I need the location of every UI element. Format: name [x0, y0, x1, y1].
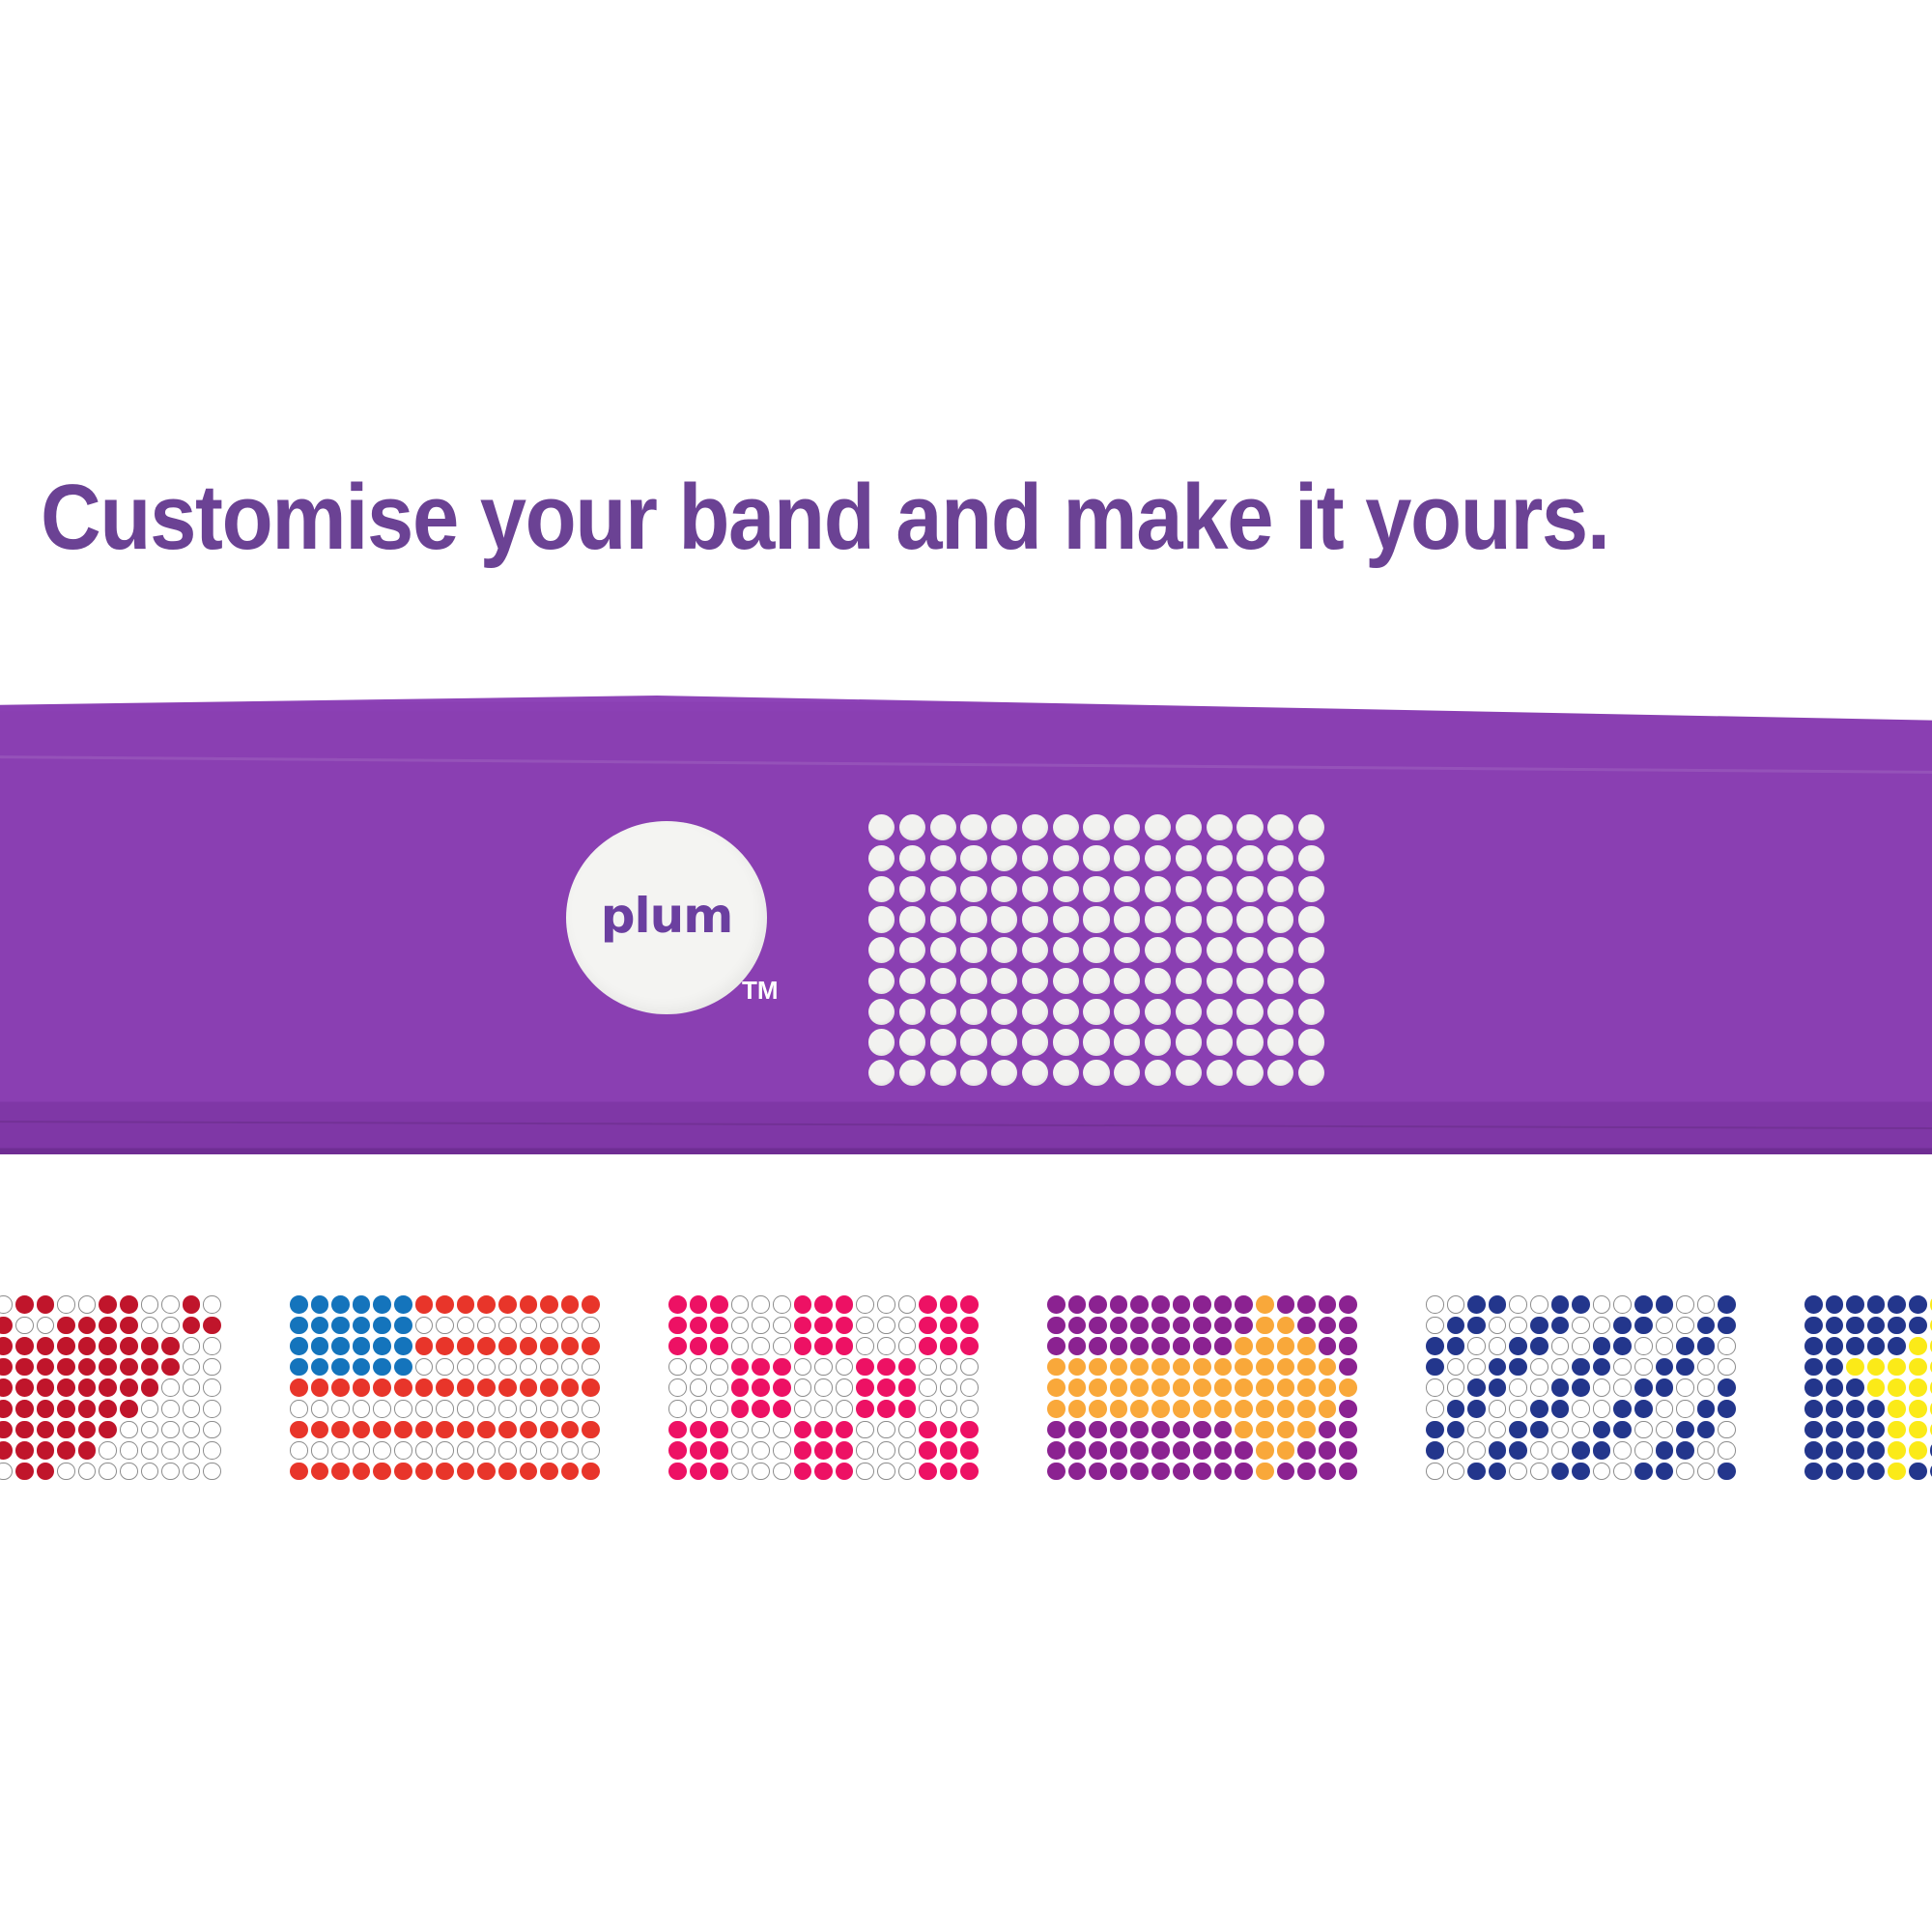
usa-flag-dot [353, 1295, 371, 1314]
usa-flag-dot [290, 1295, 308, 1314]
navy-zigzag-dot [1718, 1463, 1736, 1481]
purple-orange-cross-dot [1193, 1337, 1211, 1355]
pink-checker-dot [668, 1400, 687, 1418]
heart-red-dot [57, 1358, 75, 1377]
pink-checker-dot [836, 1463, 854, 1481]
pink-checker-dot [856, 1400, 874, 1418]
usa-flag-dot [582, 1378, 600, 1397]
pink-checker-dot [856, 1441, 874, 1460]
navy-zigzag-dot [1656, 1295, 1674, 1314]
pink-checker-dot [898, 1295, 917, 1314]
navy-zigzag-dot [1489, 1378, 1507, 1397]
nordic-cross-dot [1804, 1400, 1823, 1418]
usa-flag-dot [582, 1463, 600, 1481]
logo-wordmark: plum [566, 821, 767, 1014]
purple-orange-cross-dot [1256, 1441, 1274, 1460]
purple-orange-cross-dot [1339, 1358, 1357, 1377]
purple-orange-cross-dot [1339, 1441, 1357, 1460]
nordic-cross-dot [1846, 1463, 1864, 1481]
usa-flag-dot [353, 1358, 371, 1377]
band-grid-dot [899, 845, 925, 871]
usa-flag-dot [477, 1358, 496, 1377]
purple-orange-cross-dot [1047, 1358, 1065, 1377]
pink-checker-dot [773, 1358, 791, 1377]
band-grid-dot [1298, 937, 1324, 963]
band-grid-dot [868, 876, 895, 902]
usa-flag-dot [498, 1441, 517, 1460]
band-grid-dot [960, 1060, 986, 1086]
purple-orange-cross-dot [1214, 1378, 1233, 1397]
navy-zigzag-dot [1426, 1421, 1444, 1439]
band-grid-dot [960, 814, 986, 840]
band-grid-dot [1298, 845, 1324, 871]
pink-checker-dot [877, 1421, 895, 1439]
band-grid-dot [868, 1060, 895, 1086]
pink-checker-dot [898, 1317, 917, 1335]
heart-red-dot [141, 1441, 159, 1460]
usa-flag-dot [331, 1400, 350, 1418]
pink-checker-dot [690, 1463, 708, 1481]
nordic-cross-dot [1826, 1317, 1844, 1335]
usa-flag-dot [290, 1378, 308, 1397]
purple-orange-cross-dot [1173, 1295, 1191, 1314]
usa-flag-dot [436, 1358, 454, 1377]
band-grid-dot [1022, 876, 1048, 902]
usa-flag-dot [311, 1463, 329, 1481]
navy-zigzag-dot [1467, 1378, 1486, 1397]
usa-flag-dot [540, 1295, 558, 1314]
band-grid-dot [1236, 999, 1263, 1025]
band-grid-dot [1236, 968, 1263, 994]
band-grid-dot [1298, 814, 1324, 840]
band-design-usa-flag[interactable] [290, 1295, 600, 1480]
heart-red-dot [0, 1421, 13, 1439]
usa-flag-dot [540, 1441, 558, 1460]
navy-zigzag-dot [1656, 1441, 1674, 1460]
usa-flag-dot [477, 1378, 496, 1397]
nordic-cross-dot [1909, 1421, 1927, 1439]
trademark-symbol: TM [742, 976, 779, 1006]
heart-red-dot [183, 1441, 201, 1460]
pink-checker-dot [877, 1400, 895, 1418]
purple-orange-cross-dot [1193, 1441, 1211, 1460]
navy-zigzag-dot [1426, 1317, 1444, 1335]
purple-orange-cross-dot [1173, 1378, 1191, 1397]
usa-flag-dot [394, 1317, 412, 1335]
purple-orange-cross-dot [1130, 1358, 1149, 1377]
navy-zigzag-dot [1551, 1463, 1570, 1481]
navy-zigzag-dot [1572, 1441, 1590, 1460]
band-grid-dot [1267, 814, 1293, 840]
purple-orange-cross-dot [1256, 1337, 1274, 1355]
pink-checker-dot [940, 1441, 958, 1460]
band-design-purple-orange-cross[interactable] [1047, 1295, 1357, 1480]
navy-zigzag-dot [1551, 1337, 1570, 1355]
purple-orange-cross-dot [1110, 1400, 1128, 1418]
band-grid-dot [1145, 814, 1171, 840]
band-grid-dot [1083, 999, 1109, 1025]
navy-zigzag-dot [1593, 1358, 1611, 1377]
usa-flag-dot [436, 1441, 454, 1460]
band-grid-dot [991, 906, 1017, 932]
band-grid-dot [899, 999, 925, 1025]
usa-flag-dot [290, 1421, 308, 1439]
band-design-nordic-cross[interactable] [1804, 1295, 1932, 1480]
usa-flag-dot [561, 1317, 580, 1335]
nordic-cross-dot [1867, 1295, 1886, 1314]
purple-orange-cross-dot [1277, 1337, 1295, 1355]
navy-zigzag-dot [1718, 1378, 1736, 1397]
usa-flag-dot [311, 1317, 329, 1335]
usa-flag-dot [415, 1317, 434, 1335]
pink-checker-dot [731, 1441, 750, 1460]
navy-zigzag-dot [1530, 1400, 1548, 1418]
band-grid-dot [1022, 906, 1048, 932]
usa-flag-dot [311, 1295, 329, 1314]
heart-red-dot [99, 1358, 117, 1377]
navy-zigzag-dot [1572, 1337, 1590, 1355]
purple-orange-cross-dot [1047, 1400, 1065, 1418]
band-grid-dot [1267, 968, 1293, 994]
nordic-cross-dot [1846, 1400, 1864, 1418]
purple-orange-cross-dot [1319, 1358, 1337, 1377]
heart-red-dot [37, 1463, 55, 1481]
purple-orange-cross-dot [1173, 1441, 1191, 1460]
usa-flag-dot [561, 1463, 580, 1481]
usa-flag-dot [373, 1378, 391, 1397]
heart-red-dot [203, 1337, 221, 1355]
pink-checker-dot [940, 1400, 958, 1418]
nordic-cross-dot [1826, 1358, 1844, 1377]
navy-zigzag-dot [1697, 1441, 1716, 1460]
band-grid-dot [899, 937, 925, 963]
usa-flag-dot [540, 1400, 558, 1418]
navy-zigzag-dot [1613, 1441, 1632, 1460]
usa-flag-dot [394, 1295, 412, 1314]
usa-flag-dot-grid [290, 1295, 600, 1480]
pink-checker-dot [752, 1400, 770, 1418]
pink-checker-dot [940, 1317, 958, 1335]
usa-flag-dot [477, 1441, 496, 1460]
band-grid-dot [930, 1029, 956, 1055]
heart-red-dot [78, 1400, 97, 1418]
usa-flag-dot [290, 1337, 308, 1355]
pink-checker-dot [668, 1317, 687, 1335]
purple-orange-cross-dot [1256, 1295, 1274, 1314]
purple-orange-cross-dot [1068, 1463, 1087, 1481]
pink-checker-dot [731, 1295, 750, 1314]
band-grid-dot [960, 1029, 986, 1055]
band-grid-dot [991, 1060, 1017, 1086]
purple-orange-cross-dot [1047, 1421, 1065, 1439]
heart-red-dot [183, 1337, 201, 1355]
purple-orange-cross-dot [1151, 1441, 1170, 1460]
purple-orange-cross-dot [1297, 1337, 1316, 1355]
navy-zigzag-dot [1613, 1400, 1632, 1418]
pink-checker-dot [836, 1358, 854, 1377]
band-grid-dot [1083, 937, 1109, 963]
band-design-heart-red[interactable] [0, 1295, 221, 1480]
heart-red-dot [183, 1317, 201, 1335]
pink-checker-dot [919, 1463, 937, 1481]
pink-checker-dot [960, 1421, 979, 1439]
band-grid-dot [1207, 1029, 1233, 1055]
band-grid-dot [1176, 968, 1202, 994]
usa-flag-dot [394, 1463, 412, 1481]
usa-flag-dot [415, 1463, 434, 1481]
band-grid-dot [1053, 968, 1079, 994]
pink-checker-dot [668, 1295, 687, 1314]
band-grid-dot [1145, 999, 1171, 1025]
band-grid-dot [1176, 906, 1202, 932]
navy-zigzag-dot [1613, 1421, 1632, 1439]
band-grid-dot [960, 845, 986, 871]
usa-flag-dot [331, 1441, 350, 1460]
heart-red-dot [203, 1358, 221, 1377]
band-grid-dot [1236, 845, 1263, 871]
band-grid-dot [1267, 1060, 1293, 1086]
heart-red-dot [120, 1421, 138, 1439]
pink-checker-dot [668, 1358, 687, 1377]
band-grid-dot [1145, 906, 1171, 932]
purple-orange-cross-dot [1235, 1378, 1253, 1397]
usa-flag-dot [498, 1378, 517, 1397]
purple-orange-cross-dot [1068, 1317, 1087, 1335]
usa-flag-dot [498, 1337, 517, 1355]
navy-zigzag-dot [1530, 1378, 1548, 1397]
band-design-navy-zigzag[interactable] [1426, 1295, 1736, 1480]
band-grid-dot [1083, 1029, 1109, 1055]
band-grid-dot [960, 968, 986, 994]
usa-flag-dot [582, 1421, 600, 1439]
purple-orange-cross-dot [1047, 1317, 1065, 1335]
nordic-cross-dot [1846, 1317, 1864, 1335]
usa-flag-dot [290, 1463, 308, 1481]
heart-red-dot [120, 1317, 138, 1335]
pink-checker-dot [690, 1295, 708, 1314]
usa-flag-dot [311, 1337, 329, 1355]
heart-red-dot [57, 1317, 75, 1335]
nordic-cross-dot [1826, 1421, 1844, 1439]
heart-red-dot [141, 1400, 159, 1418]
purple-orange-cross-dot [1277, 1317, 1295, 1335]
purple-orange-cross-dot [1173, 1337, 1191, 1355]
purple-orange-cross-dot [1319, 1317, 1337, 1335]
usa-flag-dot [331, 1463, 350, 1481]
usa-flag-dot [436, 1317, 454, 1335]
heart-red-dot [15, 1400, 34, 1418]
navy-zigzag-dot [1426, 1463, 1444, 1481]
usa-flag-dot [311, 1441, 329, 1460]
band-grid-dot [1022, 999, 1048, 1025]
navy-zigzag-dot [1697, 1295, 1716, 1314]
heart-red-dot [161, 1295, 180, 1314]
navy-zigzag-dot [1676, 1463, 1694, 1481]
navy-zigzag-dot [1697, 1317, 1716, 1335]
purple-orange-cross-dot [1339, 1317, 1357, 1335]
navy-zigzag-dot [1530, 1421, 1548, 1439]
navy-zigzag-dot [1676, 1421, 1694, 1439]
purple-orange-cross-dot [1089, 1463, 1107, 1481]
purple-orange-cross-dot [1297, 1358, 1316, 1377]
nordic-cross-dot [1867, 1463, 1886, 1481]
usa-flag-dot [331, 1421, 350, 1439]
pink-checker-dot-grid [668, 1295, 979, 1480]
band-grid-dot [1176, 999, 1202, 1025]
usa-flag-dot [353, 1317, 371, 1335]
band-grid-dot [899, 1029, 925, 1055]
pink-checker-dot [731, 1463, 750, 1481]
purple-orange-cross-dot [1277, 1295, 1295, 1314]
navy-zigzag-dot [1634, 1358, 1653, 1377]
band-grid-dot [1267, 906, 1293, 932]
band-grid-dot [1022, 845, 1048, 871]
navy-zigzag-dot [1426, 1378, 1444, 1397]
purple-orange-cross-dot [1235, 1400, 1253, 1418]
usa-flag-dot [331, 1378, 350, 1397]
pink-checker-dot [960, 1463, 979, 1481]
purple-orange-cross-dot [1339, 1337, 1357, 1355]
navy-zigzag-dot [1634, 1295, 1653, 1314]
nordic-cross-dot [1909, 1378, 1927, 1397]
band-grid-dot [1022, 1029, 1048, 1055]
navy-zigzag-dot [1656, 1378, 1674, 1397]
usa-flag-dot [311, 1358, 329, 1377]
nordic-cross-dot [1909, 1337, 1927, 1355]
usa-flag-dot [582, 1400, 600, 1418]
pink-checker-dot [960, 1378, 979, 1397]
band-grid-dot [930, 968, 956, 994]
usa-flag-dot [498, 1295, 517, 1314]
usa-flag-dot [353, 1337, 371, 1355]
nordic-cross-dot [1804, 1421, 1823, 1439]
usa-flag-dot [540, 1358, 558, 1377]
pink-checker-dot [940, 1421, 958, 1439]
pink-checker-dot [731, 1337, 750, 1355]
navy-zigzag-dot [1676, 1337, 1694, 1355]
usa-flag-dot [415, 1337, 434, 1355]
usa-flag-dot [477, 1463, 496, 1481]
navy-zigzag-dot [1530, 1358, 1548, 1377]
navy-zigzag-dot [1593, 1400, 1611, 1418]
heart-red-dot [161, 1441, 180, 1460]
navy-zigzag-dot [1489, 1358, 1507, 1377]
pink-checker-dot [836, 1421, 854, 1439]
pink-checker-dot [877, 1295, 895, 1314]
purple-orange-cross-dot [1319, 1421, 1337, 1439]
heart-red-dot [0, 1337, 13, 1355]
navy-zigzag-dot [1697, 1421, 1716, 1439]
nordic-cross-dot [1846, 1441, 1864, 1460]
navy-zigzag-dot [1509, 1337, 1527, 1355]
nordic-cross-dot [1888, 1337, 1906, 1355]
navy-zigzag-dot [1634, 1463, 1653, 1481]
navy-zigzag-dot [1718, 1441, 1736, 1460]
purple-orange-cross-dot [1151, 1295, 1170, 1314]
purple-orange-cross-dot [1151, 1337, 1170, 1355]
pink-checker-dot [773, 1463, 791, 1481]
navy-zigzag-dot [1447, 1337, 1465, 1355]
navy-zigzag-dot [1447, 1441, 1465, 1460]
pink-checker-dot [960, 1400, 979, 1418]
navy-zigzag-dot [1551, 1317, 1570, 1335]
heart-red-dot [99, 1378, 117, 1397]
navy-zigzag-dot [1530, 1337, 1548, 1355]
band-grid-dot [1022, 814, 1048, 840]
heart-red-dot [37, 1358, 55, 1377]
purple-orange-cross-dot [1130, 1295, 1149, 1314]
purple-orange-cross-dot [1151, 1358, 1170, 1377]
heart-red-dot [141, 1421, 159, 1439]
pink-checker-dot [836, 1337, 854, 1355]
purple-orange-cross-dot [1089, 1337, 1107, 1355]
nordic-cross-dot [1804, 1463, 1823, 1481]
band-grid-dot [991, 814, 1017, 840]
navy-zigzag-dot [1426, 1337, 1444, 1355]
usa-flag-dot [520, 1358, 538, 1377]
pink-checker-dot [710, 1441, 728, 1460]
band-grid-dot [1114, 814, 1140, 840]
purple-orange-cross-dot [1089, 1378, 1107, 1397]
pink-checker-dot [814, 1337, 833, 1355]
purple-orange-cross-dot [1151, 1317, 1170, 1335]
navy-zigzag-dot [1572, 1295, 1590, 1314]
band-grid-dot [1207, 876, 1233, 902]
purple-orange-cross-dot [1089, 1441, 1107, 1460]
band-grid-dot [868, 968, 895, 994]
usa-flag-dot [373, 1295, 391, 1314]
navy-zigzag-dot [1656, 1358, 1674, 1377]
usa-flag-dot [520, 1295, 538, 1314]
band-grid-dot [1207, 999, 1233, 1025]
band-grid-dot [1083, 1060, 1109, 1086]
usa-flag-dot [540, 1317, 558, 1335]
band-grid-dot [868, 1029, 895, 1055]
nordic-cross-dot [1804, 1337, 1823, 1355]
pink-checker-dot [856, 1378, 874, 1397]
usa-flag-dot [561, 1337, 580, 1355]
pink-checker-dot [710, 1421, 728, 1439]
band-grid-dot [1176, 876, 1202, 902]
heart-red-dot [0, 1378, 13, 1397]
usa-flag-dot [373, 1358, 391, 1377]
usa-flag-dot [540, 1463, 558, 1481]
pink-checker-dot [794, 1400, 812, 1418]
nordic-cross-dot [1909, 1317, 1927, 1335]
pink-checker-dot [773, 1421, 791, 1439]
purple-orange-cross-dot [1173, 1463, 1191, 1481]
purple-orange-cross-dot [1235, 1295, 1253, 1314]
navy-zigzag-dot [1718, 1421, 1736, 1439]
band-grid-dot [1114, 906, 1140, 932]
purple-orange-cross-dot [1214, 1317, 1233, 1335]
navy-zigzag-dot [1676, 1400, 1694, 1418]
nordic-cross-dot [1909, 1358, 1927, 1377]
purple-orange-cross-dot [1110, 1337, 1128, 1355]
pink-checker-dot [856, 1463, 874, 1481]
band-design-pink-checker[interactable] [668, 1295, 979, 1480]
pink-checker-dot [960, 1337, 979, 1355]
pink-checker-dot [773, 1441, 791, 1460]
pink-checker-dot [940, 1463, 958, 1481]
navy-zigzag-dot [1509, 1317, 1527, 1335]
usa-flag-dot [373, 1400, 391, 1418]
navy-zigzag-dot [1426, 1400, 1444, 1418]
navy-zigzag-dot [1613, 1317, 1632, 1335]
pink-checker-dot [856, 1337, 874, 1355]
usa-flag-dot [457, 1441, 475, 1460]
band-grid-dot [1053, 845, 1079, 871]
